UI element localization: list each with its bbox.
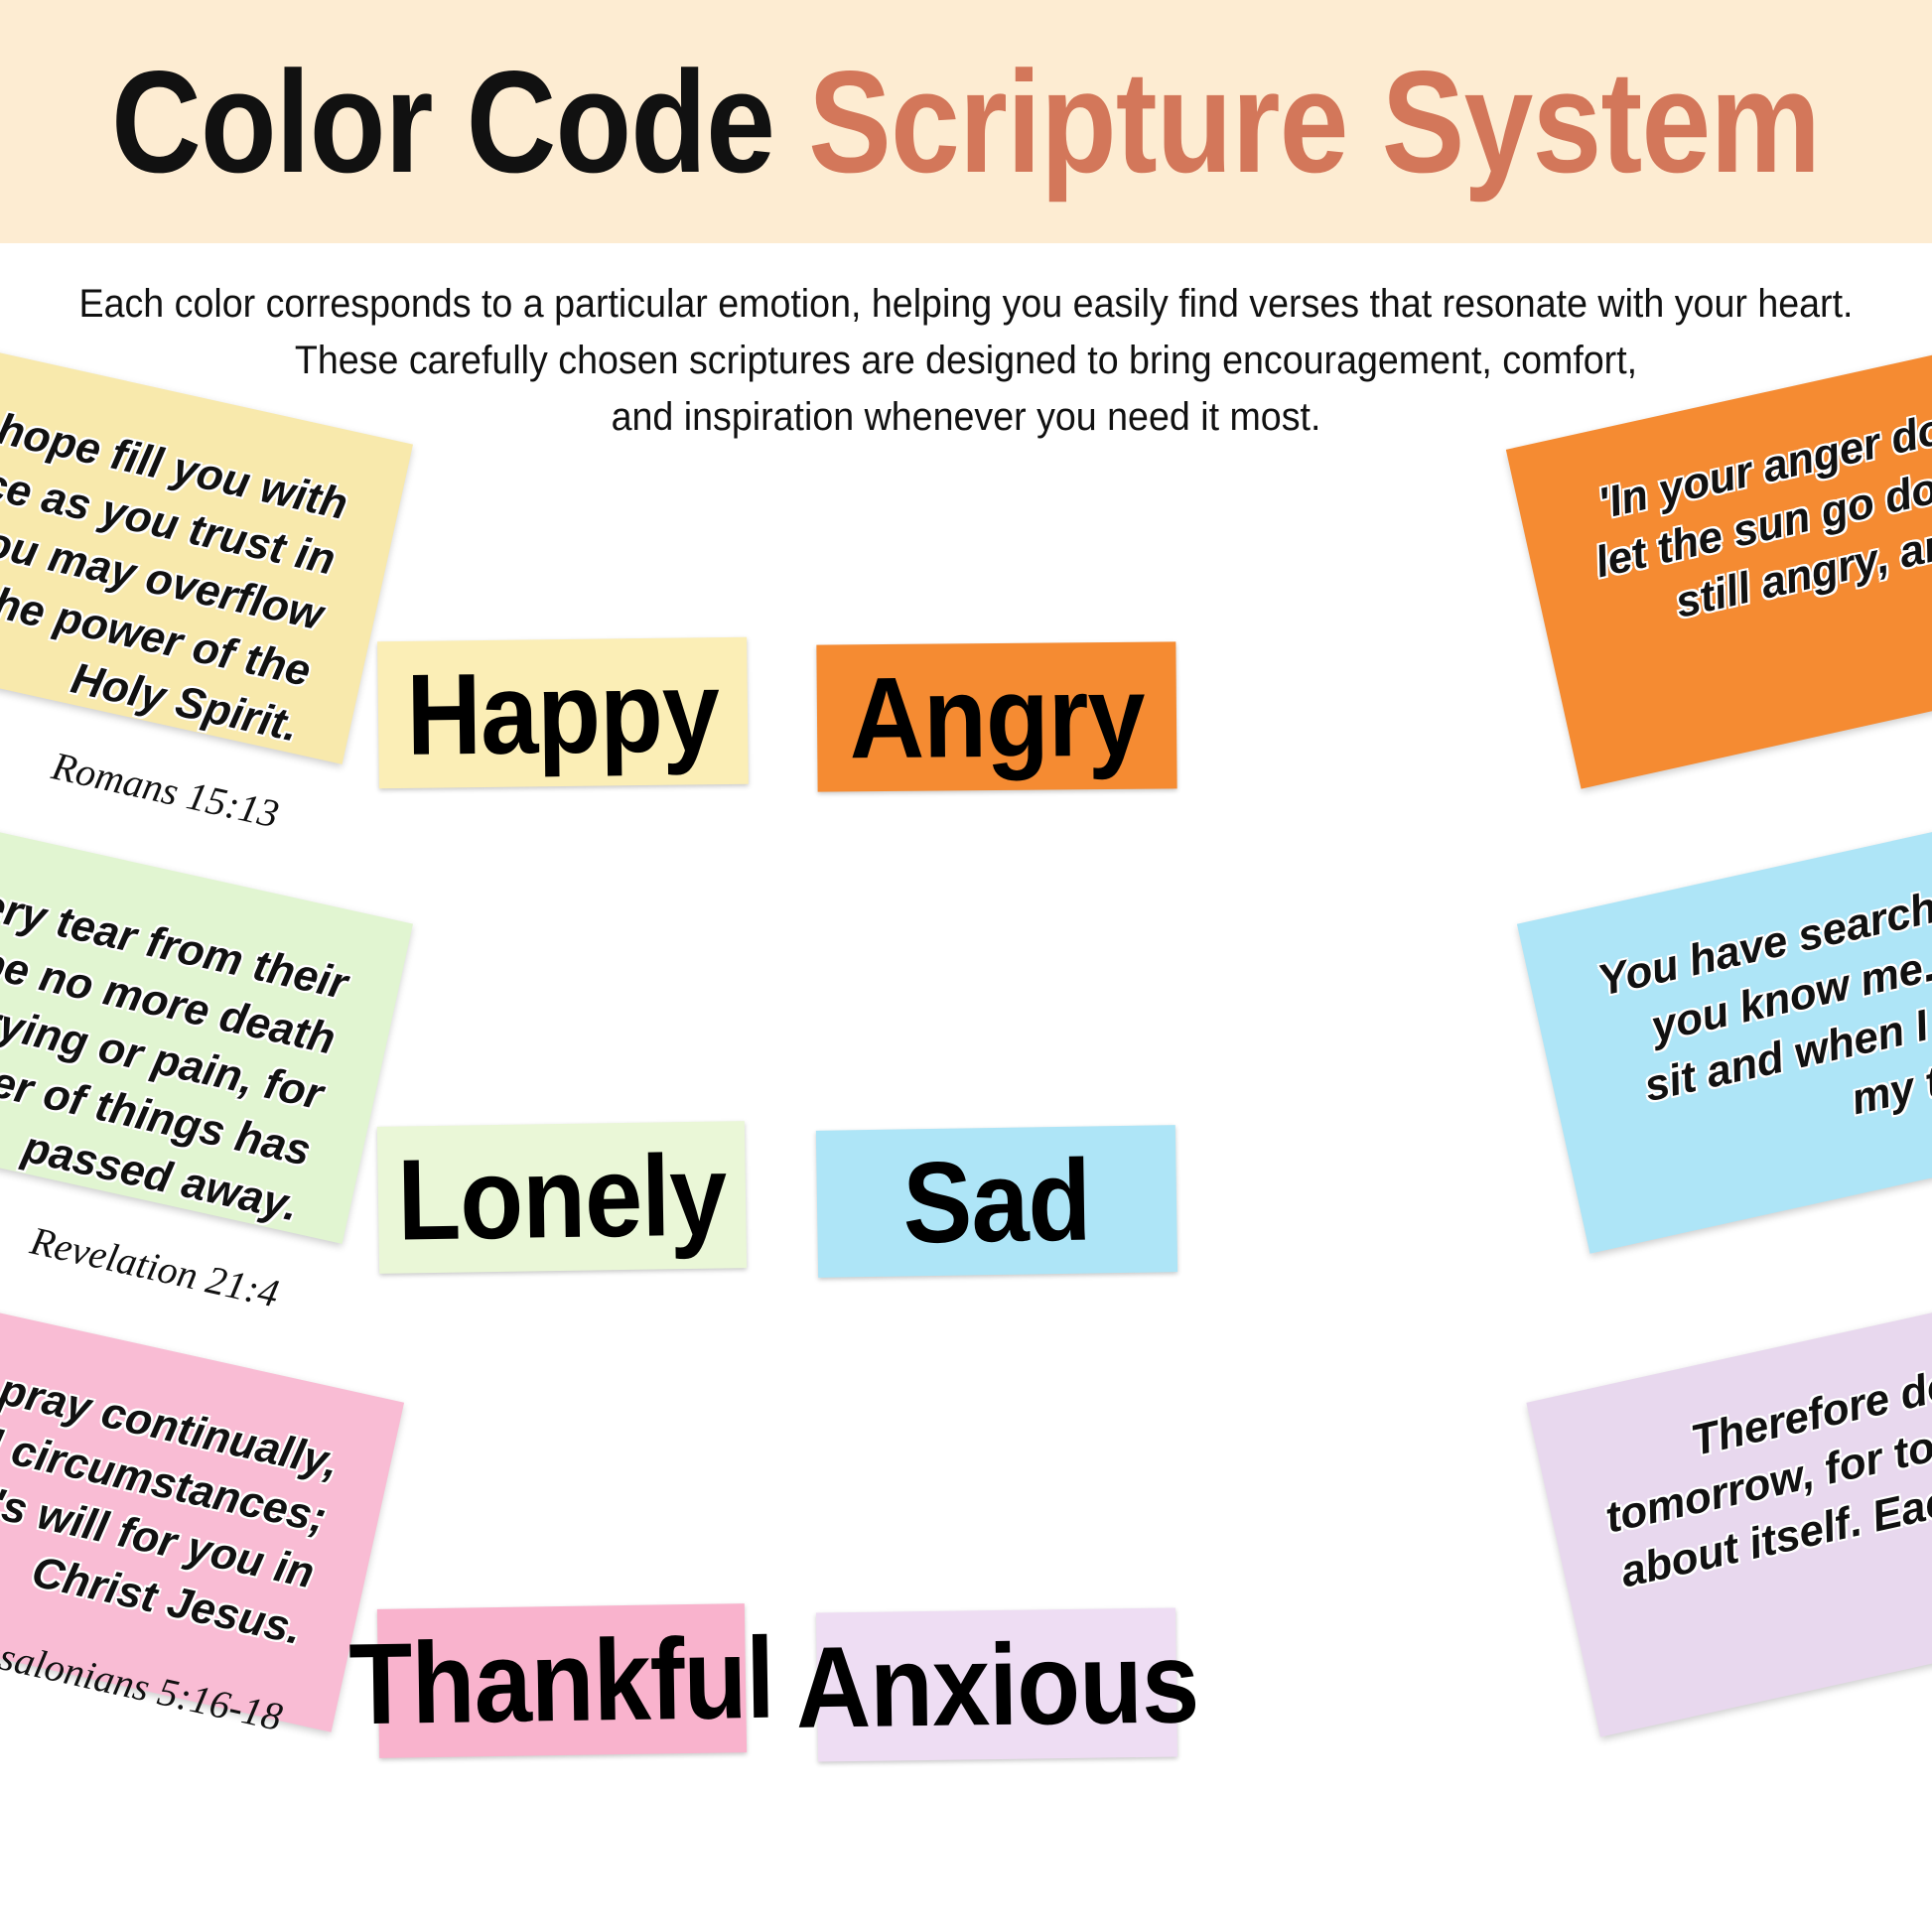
emotion-label-anxious-text: Anxious	[794, 1624, 1198, 1745]
emotion-label-lonely-text: Lonely	[397, 1137, 728, 1257]
emotion-label-anxious[interactable]: Anxious	[816, 1607, 1177, 1761]
emotion-label-happy[interactable]: Happy	[377, 637, 749, 789]
page-title: Color Code Scripture System	[111, 50, 1820, 195]
emotion-label-thankful-text: Thankful	[348, 1620, 775, 1742]
poster-canvas: Color Code Scripture System Each color c…	[0, 0, 1932, 1932]
verse-text-thankful: Rejoice always, pray continually, give t…	[0, 1282, 344, 1657]
subtitle-line-1: Each color corresponds to a particular e…	[58, 276, 1873, 333]
emotion-label-lonely[interactable]: Lonely	[377, 1121, 747, 1274]
verse-text-anxious: Therefore do not worry about tomorrow, f…	[1587, 1283, 1932, 1658]
emotion-label-sad[interactable]: Sad	[816, 1125, 1177, 1278]
emotion-label-happy-text: Happy	[406, 653, 720, 772]
emotion-label-angry-text: Angry	[849, 658, 1145, 776]
verse-card-anxious[interactable]: Therefore do not worry about tomorrow, f…	[1526, 1226, 1932, 1736]
verse-text-lonely: He will wipe every tear from their eyes.…	[0, 803, 352, 1234]
page-title-primary: Color Code	[111, 41, 774, 203]
verse-text-sad: You have searched me, Lord, and you know…	[1578, 803, 1932, 1178]
header-band: Color Code Scripture System	[0, 0, 1932, 243]
emotion-label-thankful[interactable]: Thankful	[377, 1603, 747, 1758]
emotion-label-angry[interactable]: Angry	[816, 641, 1176, 791]
verse-card-thankful[interactable]: Rejoice always, pray continually, give t…	[0, 1226, 404, 1731]
verse-card-sad[interactable]: You have searched me, Lord, and you know…	[1517, 748, 1932, 1253]
page-title-accent: Scripture System	[809, 41, 1821, 203]
emotion-label-sad-text: Sad	[902, 1143, 1092, 1261]
subtitle-line-2: These carefully chosen scriptures are de…	[58, 333, 1873, 389]
